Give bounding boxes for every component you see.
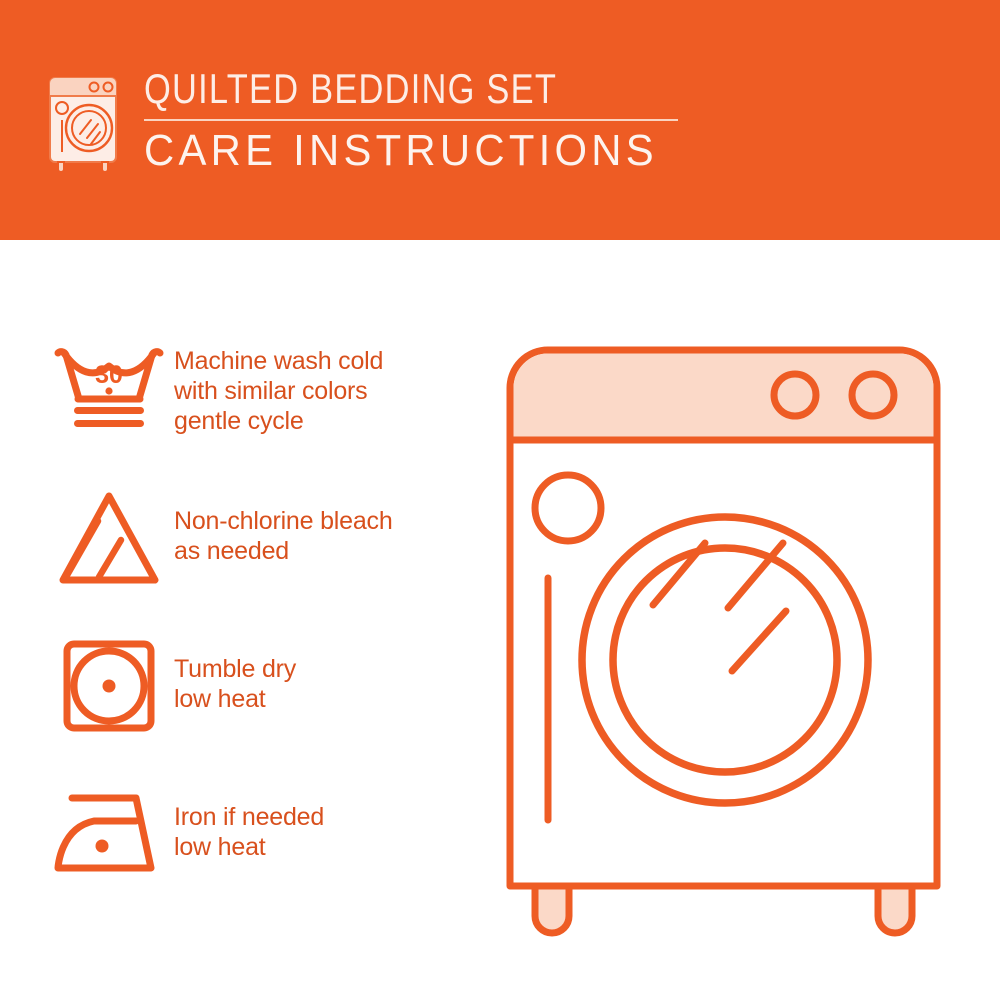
front-load-washing-machine-illustration	[490, 330, 980, 950]
care-item-tumble-dry-text: Tumble dry low heat	[174, 626, 484, 714]
wash-temperature-value: 30	[95, 361, 123, 389]
care-item-bleach: Non-chlorine bleach as needed	[44, 478, 484, 626]
care-line: as needed	[174, 536, 484, 566]
care-item-machine-wash: 30 Machine wash cold with similar colors…	[44, 330, 484, 478]
page-title-product: QUILTED BEDDING SET	[144, 66, 588, 112]
care-item-bleach-text: Non-chlorine bleach as needed	[174, 478, 484, 566]
header-banner: QUILTED BEDDING SET CARE INSTRUCTIONS	[0, 0, 1000, 240]
care-item-iron: Iron if needed low heat	[44, 774, 484, 922]
care-item-tumble-dry: Tumble dry low heat	[44, 626, 484, 774]
page-title-care: CARE INSTRUCTIONS	[144, 127, 658, 175]
care-line: Tumble dry	[174, 654, 484, 684]
header-title-block: QUILTED BEDDING SET CARE INSTRUCTIONS	[144, 66, 685, 175]
title-divider	[144, 119, 678, 121]
care-line: low heat	[174, 832, 484, 862]
care-line: with similar colors	[174, 376, 484, 406]
care-instructions-list: 30 Machine wash cold with similar colors…	[44, 330, 484, 922]
non-chlorine-bleach-triangle-icon	[44, 478, 174, 598]
tumble-dry-low-heat-icon	[44, 626, 174, 746]
machine-wash-cold-30-gentle-icon: 30	[44, 330, 174, 450]
care-line: gentle cycle	[174, 406, 484, 436]
care-item-iron-text: Iron if needed low heat	[174, 774, 484, 862]
care-line: Non-chlorine bleach	[174, 506, 484, 536]
header-content: QUILTED BEDDING SET CARE INSTRUCTIONS	[44, 66, 685, 175]
care-line: low heat	[174, 684, 484, 714]
care-line: Iron if needed	[174, 802, 484, 832]
iron-low-heat-icon	[44, 774, 174, 894]
washing-machine-icon	[44, 70, 128, 172]
control-panel	[514, 354, 934, 441]
care-item-machine-wash-text: Machine wash cold with similar colors ge…	[174, 330, 484, 436]
care-line: Machine wash cold	[174, 346, 484, 376]
